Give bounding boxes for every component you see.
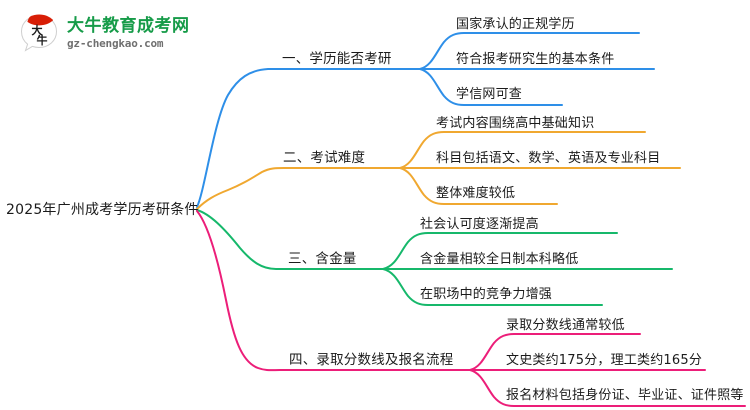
- root-node-label[interactable]: 2025年广州成考学历考研条件: [6, 199, 199, 219]
- leaf-label-4-3[interactable]: 报名材料包括身份证、毕业证、证件照等: [506, 384, 744, 403]
- leaf-label-2-2[interactable]: 科目包括语文、数学、英语及专业科目: [436, 147, 660, 166]
- branch-label-4[interactable]: 四、录取分数线及报名流程: [289, 348, 453, 368]
- leaf-label-3-1[interactable]: 社会认可度逐渐提高: [420, 213, 539, 232]
- mindmap-canvas: 大 牛 大牛教育成考网 gz-chengkao.com: [0, 0, 750, 410]
- leaf-label-3-3[interactable]: 在职场中的竞争力增强: [420, 283, 552, 302]
- leaf-label-4-1[interactable]: 录取分数线通常较低: [506, 314, 625, 333]
- leaf-label-4-2[interactable]: 文史类约175分，理工类约165分: [506, 349, 702, 368]
- branch-label-2[interactable]: 二、考试难度: [283, 146, 365, 166]
- branch-4-connector: [197, 211, 745, 406]
- leaf-label-1-1[interactable]: 国家承认的正规学历: [456, 13, 575, 32]
- branch-label-1[interactable]: 一、学历能否考研: [282, 47, 392, 67]
- leaf-label-1-3[interactable]: 学信网可查: [456, 83, 522, 102]
- leaf-label-2-1[interactable]: 考试内容围绕高中基础知识: [436, 112, 594, 131]
- leaf-label-2-3[interactable]: 整体难度较低: [436, 182, 515, 201]
- leaf-label-3-2[interactable]: 含金量相较全日制本科略低: [420, 248, 578, 267]
- branch-label-3[interactable]: 三、含金量: [288, 247, 357, 267]
- leaf-label-1-2[interactable]: 符合报考研究生的基本条件: [456, 48, 614, 67]
